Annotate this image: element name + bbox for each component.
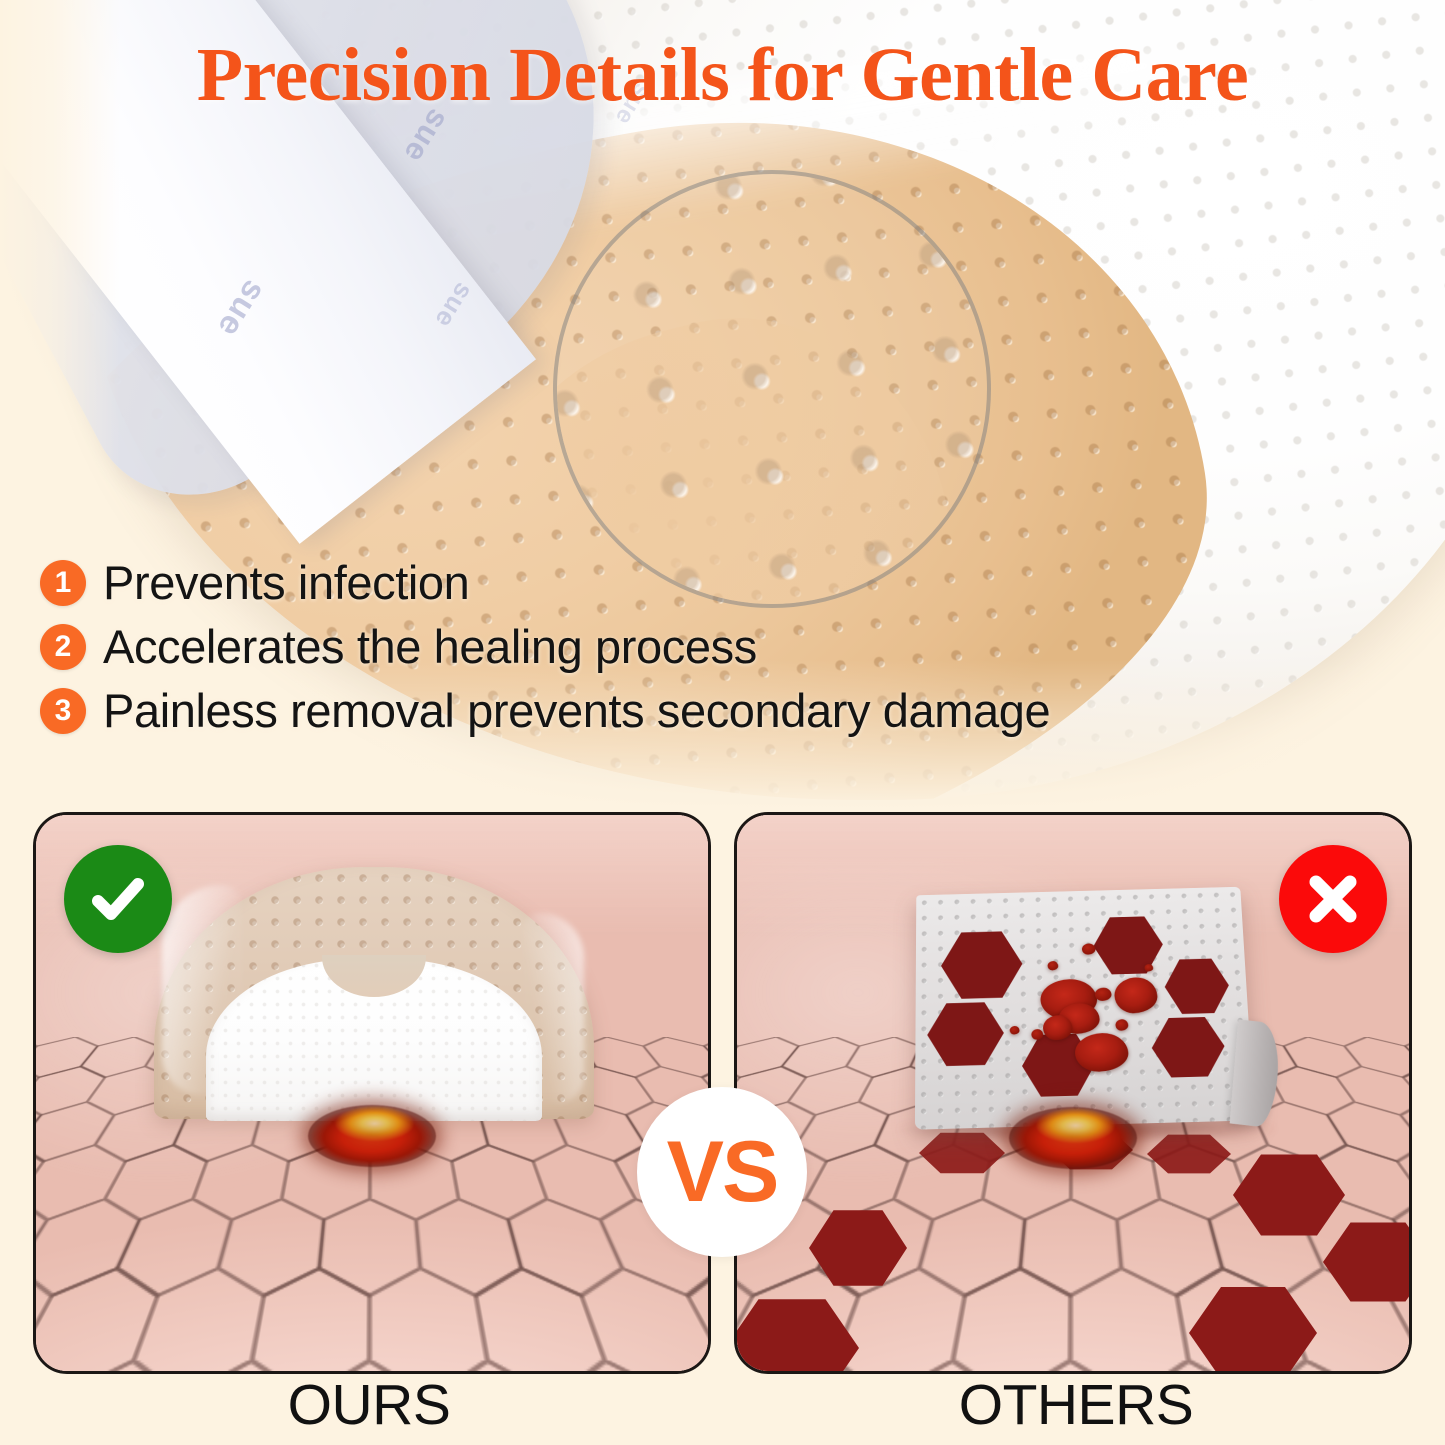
- page-title: Precision Details for Gentle Care: [0, 36, 1445, 116]
- list-item: 2 Accelerates the healing process: [40, 619, 1220, 674]
- infographic-canvas: sue sue sue sue Precision Details for Ge…: [0, 0, 1445, 1445]
- list-item: 1 Prevents infection: [40, 555, 1220, 610]
- wound-others: [1009, 1107, 1137, 1169]
- list-item: 3 Painless removal prevents secondary da…: [40, 683, 1220, 738]
- benefit-number-badge: 2: [40, 624, 86, 670]
- wound-ours: [308, 1105, 436, 1167]
- benefit-text: Accelerates the healing process: [103, 619, 757, 674]
- magnified-perforation-dots: [553, 170, 991, 608]
- label-ours: OURS: [33, 1372, 705, 1438]
- comparison-labels: OURS OTHERS: [33, 1372, 1412, 1438]
- benefit-number-badge: 3: [40, 688, 86, 734]
- comparison-panel-others: [734, 812, 1412, 1374]
- magnifier-circle: [553, 170, 991, 608]
- others-gauze-sheet: [915, 887, 1255, 1130]
- cross-mark-icon: [1279, 845, 1387, 953]
- benefit-text: Prevents infection: [103, 555, 469, 610]
- comparison-panel-ours: [33, 812, 711, 1374]
- check-mark-icon: [64, 845, 172, 953]
- vs-badge: VS: [637, 1087, 807, 1257]
- label-others: OTHERS: [740, 1372, 1412, 1438]
- benefit-number-badge: 1: [40, 560, 86, 606]
- benefit-list: 1 Prevents infection 2 Accelerates the h…: [40, 555, 1220, 747]
- benefit-text: Painless removal prevents secondary dama…: [103, 683, 1050, 738]
- ours-dressing-dome: [154, 867, 594, 1119]
